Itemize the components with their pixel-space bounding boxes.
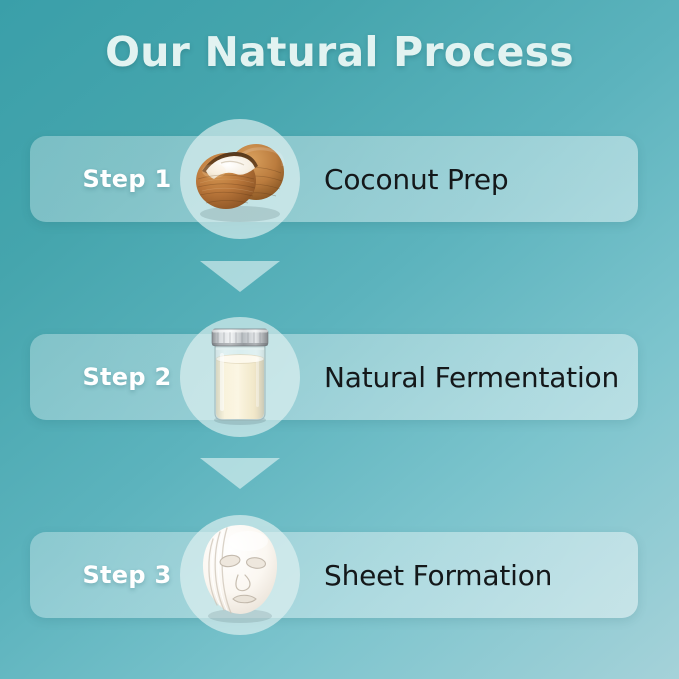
step-2-title: Natural Fermentation (324, 334, 619, 420)
coconut-icon (180, 119, 300, 239)
step-row-1: Step 1 Coconut Prep (30, 136, 638, 222)
step-3-icon-backdrop (180, 515, 300, 635)
page-title: Our Natural Process (0, 28, 679, 76)
step-1-title: Coconut Prep (324, 136, 508, 222)
step-3-title: Sheet Formation (324, 532, 552, 618)
step-2-icon-backdrop (180, 317, 300, 437)
step-row-2: Step 2 Natural Fermentation (30, 334, 638, 420)
arrow-step1-to-step2 (200, 261, 280, 292)
arrow-step2-to-step3 (200, 458, 280, 489)
process-infographic: Our Natural Process Step 1 Coconut Prep (0, 0, 679, 679)
step-1-icon-backdrop (180, 119, 300, 239)
step-row-3: Step 3 Sheet Formation (30, 532, 638, 618)
fermentation-jar-icon (180, 317, 300, 437)
sheet-mask-icon (180, 515, 300, 635)
